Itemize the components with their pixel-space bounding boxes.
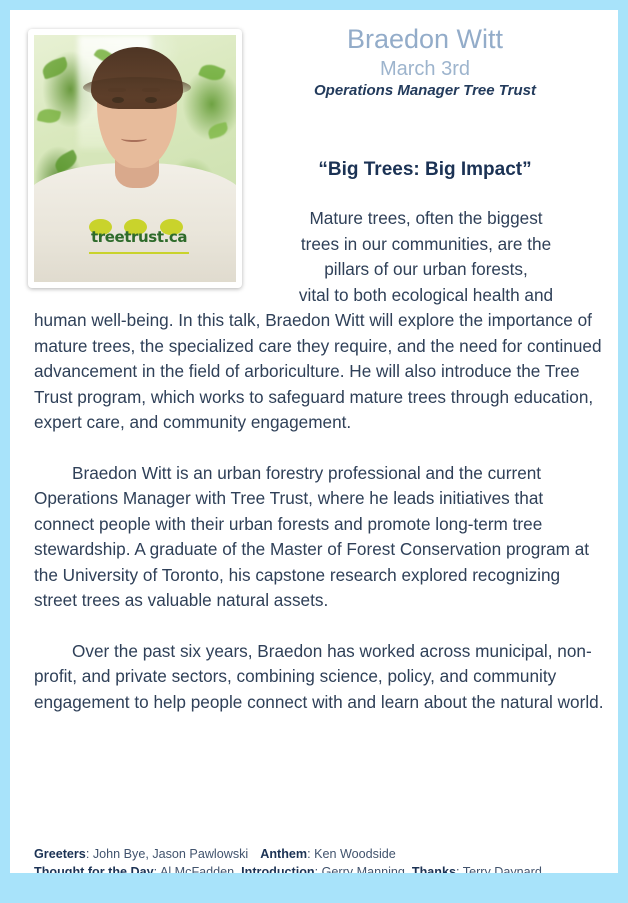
credit-colon: :	[456, 865, 463, 873]
speaker-name: Braedon Witt	[232, 24, 618, 55]
talk-title: “Big Trees: Big Impact”	[232, 159, 618, 181]
credits-line-1: Greeters: John Bye, Jason PawlowskiAnthe…	[34, 845, 606, 863]
talk-description: Mature trees, often the biggest trees in…	[34, 206, 604, 715]
credit-label-greeters: Greeters	[34, 847, 86, 861]
credit-value-thought: Al McFadden	[160, 865, 234, 873]
paragraph-experience: Over the past six years, Braedon has wor…	[34, 639, 604, 716]
photo-eye	[112, 97, 124, 103]
credits-line-2: Thought for the Day: Al McFaddenIntroduc…	[34, 863, 606, 873]
meeting-credits: Greeters: John Bye, Jason PawlowskiAnthe…	[34, 845, 606, 873]
paragraph-biography: Braedon Witt is an urban forestry profes…	[34, 461, 604, 614]
credit-label-thought: Thought for the Day	[34, 865, 154, 873]
photo-mouth	[121, 135, 147, 142]
credit-label-thanks: Thanks	[412, 865, 456, 873]
speaker-role: Operations Manager Tree Trust	[232, 82, 618, 101]
photo-text-wrap-spacer	[34, 206, 248, 294]
credit-value-anthem: Ken Woodside	[314, 847, 396, 861]
credit-label-anthem: Anthem	[260, 847, 307, 861]
paragraph-overview-rest: human well-being. In this talk, Braedon …	[34, 308, 604, 436]
speaker-header: Braedon Witt March 3rd Operations Manage…	[232, 24, 618, 101]
credit-label-introduction: Introduction	[241, 865, 314, 873]
photo-eyebrow	[108, 88, 126, 92]
credit-colon: :	[86, 847, 93, 861]
credit-value-thanks: Terry Daynard	[463, 865, 542, 873]
credit-value-introduction: Gerry Manning	[322, 865, 405, 873]
credit-value-greeters: John Bye, Jason Pawlowski	[93, 847, 248, 861]
speaker-date: March 3rd	[232, 57, 618, 81]
photo-eyebrow	[142, 88, 160, 92]
credit-colon: :	[315, 865, 322, 873]
poster-card: treetrust.ca Braedon Witt March 3rd Oper…	[10, 10, 618, 873]
